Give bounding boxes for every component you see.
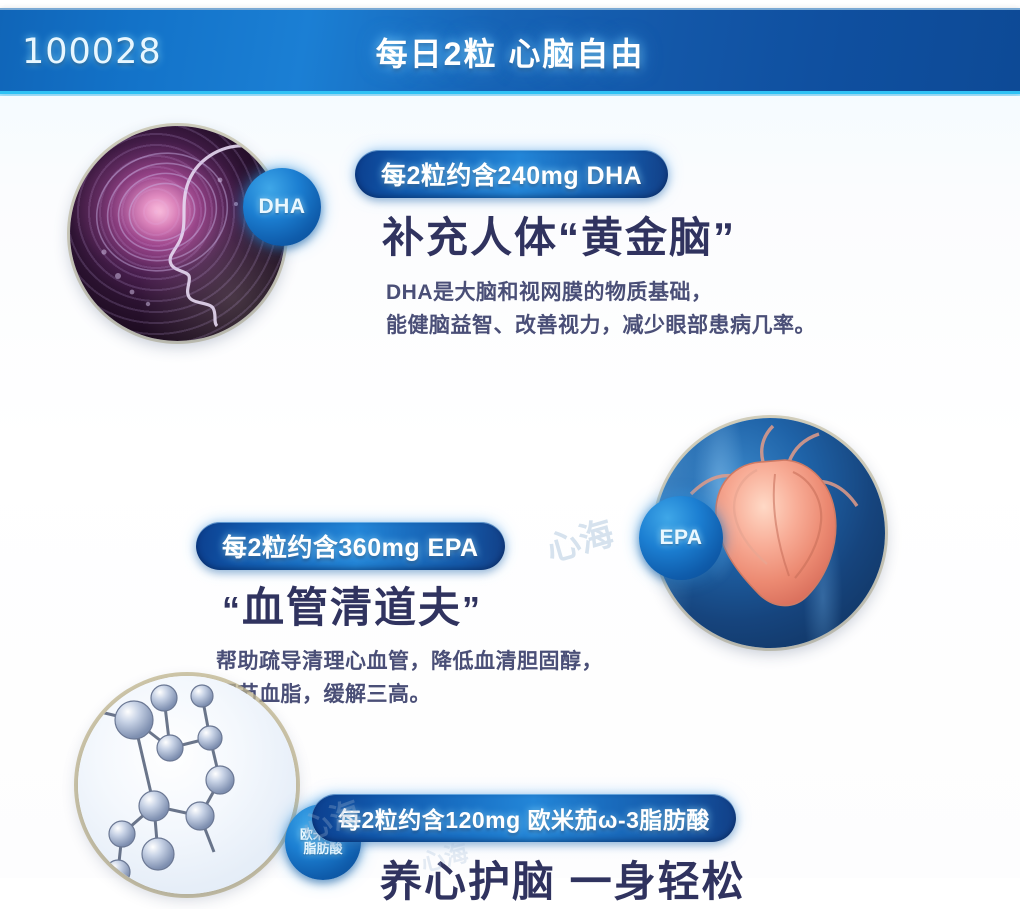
quote-open: “: [222, 589, 242, 630]
section-omega: 欧米茄3 脂肪酸 每2粒约含120mg 欧米茄ω-3脂肪酸 养心护脑 一身轻松: [0, 666, 1020, 878]
headline-omega: 养心护脑 一身轻松: [380, 848, 746, 909]
body-dha: DHA是大脑和视网膜的物质基础， 能健脑益智、改善视力，减少眼部患病几率。: [386, 277, 816, 342]
headline-dha: 补充人体“黄金脑”: [382, 204, 736, 265]
quote-close: ”: [462, 589, 482, 630]
molecule-illustration-medallion: [78, 676, 296, 894]
section-epa: EPA 每2粒约含360mg EPA ““血管清道夫”血管清道夫” 帮助疏导清理…: [0, 396, 1020, 686]
product-code: 100028: [22, 32, 162, 72]
section-dha: DHA 每2粒约含240mg DHA 补充人体“黄金脑” DHA是大脑和视网膜的…: [0, 96, 1020, 366]
page-header: 100028 每日2粒 心脑自由: [0, 8, 1020, 94]
badge-epa: EPA: [639, 496, 723, 580]
headline-epa-visible: 血管清道夫: [242, 584, 462, 631]
molecule-structure-icon: [78, 676, 296, 894]
pill-omega: 每2粒约含120mg 欧米茄ω-3脂肪酸: [312, 794, 736, 842]
pill-epa: 每2粒约含360mg EPA: [196, 522, 505, 570]
badge-dha: DHA: [243, 168, 321, 246]
headline-epa: ““血管清道夫”血管清道夫”: [222, 574, 482, 635]
pill-dha: 每2粒约含240mg DHA: [355, 150, 668, 198]
content-canvas: DHA 每2粒约含240mg DHA 补充人体“黄金脑” DHA是大脑和视网膜的…: [0, 96, 1020, 878]
